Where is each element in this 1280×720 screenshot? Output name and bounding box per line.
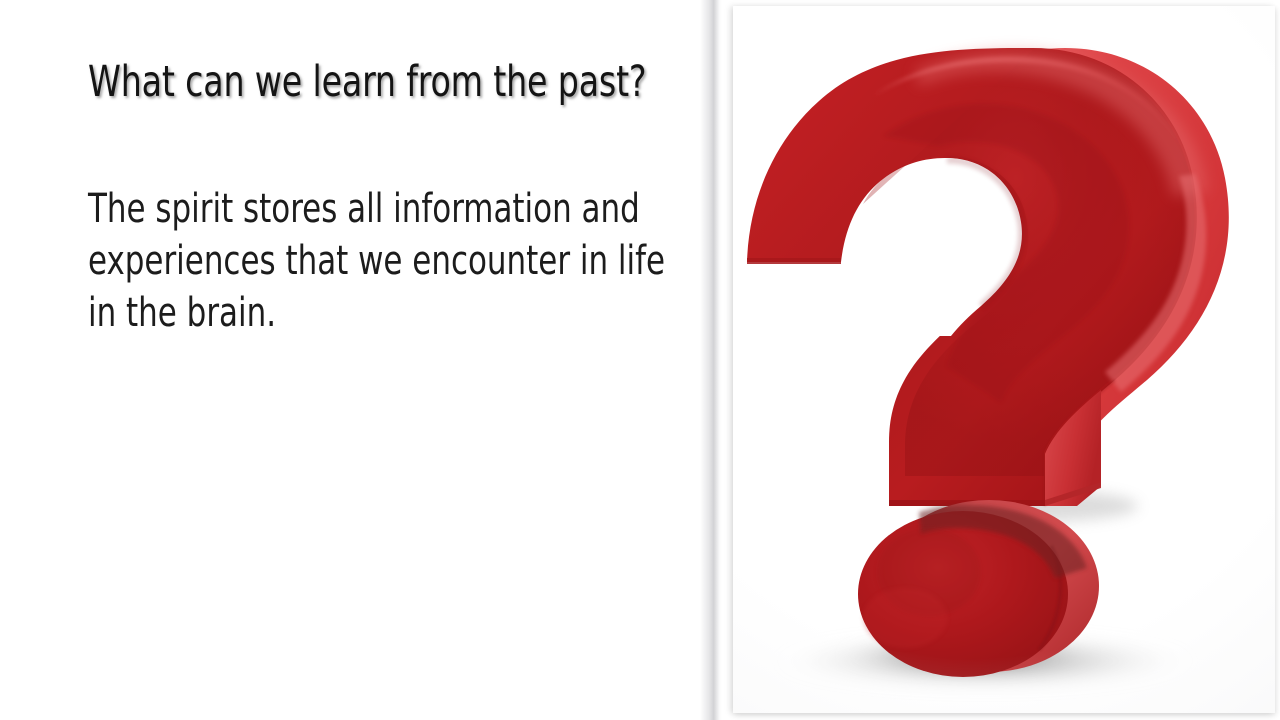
body-text-line: The spirit stores all information and bbox=[88, 183, 656, 235]
body-text-line: experiences that we encounter in life bbox=[88, 235, 656, 287]
illustration-panel bbox=[733, 6, 1275, 713]
question-mark-icon bbox=[733, 6, 1275, 713]
body-text-line: in the brain. bbox=[88, 287, 656, 339]
text-column: What can we learn from the past? The spi… bbox=[0, 0, 700, 720]
dot-highlight bbox=[863, 588, 947, 648]
page-title: What can we learn from the past? bbox=[88, 58, 604, 106]
body-text-block: The spirit stores all information and ex… bbox=[88, 183, 656, 339]
column-divider bbox=[700, 0, 722, 720]
question-mark-tail-cut bbox=[747, 258, 841, 264]
slide-canvas: What can we learn from the past? The spi… bbox=[0, 0, 1280, 720]
